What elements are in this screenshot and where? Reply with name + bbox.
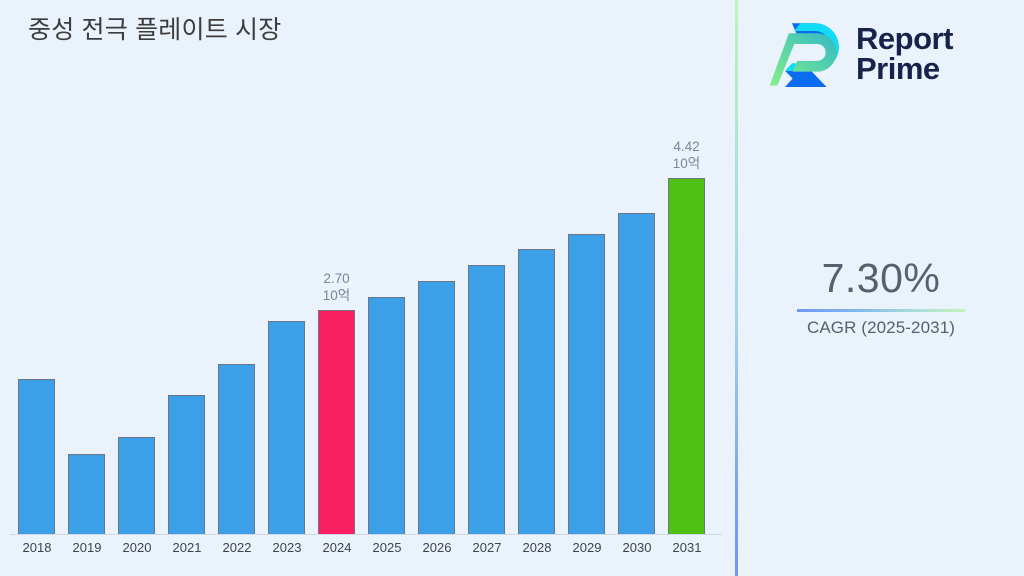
bar-rect-2029[interactable] — [568, 234, 605, 534]
bar-rect-2030[interactable] — [618, 213, 655, 534]
x-axis-tick-labels: 2018201920202021202220232024202520262027… — [0, 540, 735, 564]
bar-rect-2027[interactable] — [468, 265, 505, 534]
cagr-value: 7.30% — [738, 255, 1024, 302]
chart-panel: 중성 전극 플레이트 시장 2.7010억4.4210억 20182019202… — [0, 0, 735, 576]
bar-rect-2025[interactable] — [368, 297, 405, 534]
bar-rect-2019[interactable] — [68, 454, 105, 534]
bar-rect-2026[interactable] — [418, 281, 455, 534]
logo-line-1: Report — [856, 24, 953, 54]
page-title: 중성 전극 플레이트 시장 — [28, 10, 281, 46]
bar-value-number-2031: 4.42 — [673, 139, 699, 154]
bar-rect-2023[interactable] — [268, 321, 305, 534]
bar-rect-2021[interactable] — [168, 395, 205, 534]
bar-rect-2028[interactable] — [518, 249, 555, 534]
info-panel: Report Prime 7.30% CAGR (2025-2031) — [738, 0, 1024, 576]
bar-value-number-2024: 2.70 — [323, 271, 349, 286]
bar-rect-2031[interactable] — [668, 178, 705, 534]
cagr-caption: CAGR (2025-2031) — [738, 318, 1024, 338]
cagr-divider-rule — [797, 309, 965, 312]
bar-value-label-2024: 2.7010억 — [301, 270, 372, 304]
x-tick-2031: 2031 — [657, 540, 717, 555]
bar-rect-2018[interactable] — [18, 379, 55, 534]
bar-rect-2024[interactable] — [318, 310, 355, 534]
report-prime-monogram-icon — [766, 21, 844, 87]
x-axis-baseline — [10, 534, 722, 535]
logo-line-2: Prime — [856, 54, 953, 84]
bar-value-unit-2031: 10억 — [651, 155, 722, 172]
bar-value-unit-2024: 10억 — [301, 287, 372, 304]
bar-rect-2022[interactable] — [218, 364, 255, 534]
bar-value-label-2031: 4.4210억 — [651, 138, 722, 172]
report-prime-wordmark: Report Prime — [856, 24, 953, 85]
cagr-block: 7.30% CAGR (2025-2031) — [738, 255, 1024, 338]
bar-rect-2020[interactable] — [118, 437, 155, 534]
bar-chart-plot-area: 2.7010억4.4210억 — [0, 120, 735, 535]
report-prime-logo: Report Prime — [766, 12, 1006, 96]
